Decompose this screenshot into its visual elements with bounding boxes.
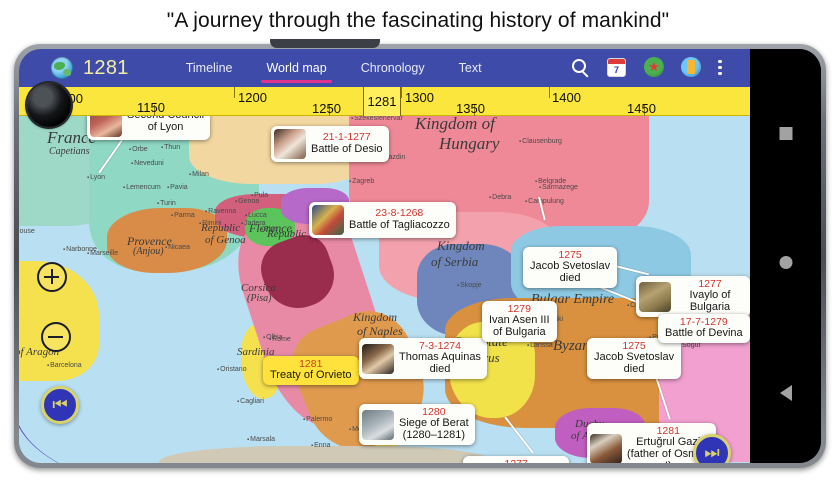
city-rimini: Rimini bbox=[199, 220, 222, 227]
app-viewport: 1281 Timeline World map Chronology Text … bbox=[19, 49, 750, 463]
event-callout-thomas-aquinas-died[interactable]: 7-3-1274 Thomas Aquinasdied bbox=[359, 338, 487, 379]
ruler-label-1350: 1350 bbox=[456, 101, 485, 116]
event-title: Treaty of Orvieto bbox=[270, 370, 352, 382]
ruler-label-1250: 1250 bbox=[312, 101, 341, 116]
city-nicaea: Nicaea bbox=[165, 244, 190, 251]
city-pavia: Pavia bbox=[167, 184, 188, 191]
tab-chronology[interactable]: Chronology bbox=[344, 52, 442, 85]
front-camera-icon bbox=[27, 83, 71, 127]
event-thumbnail bbox=[274, 129, 306, 159]
event-callout-battle-of-desio[interactable]: 21-1-1277 Battle of Desio bbox=[271, 126, 389, 162]
calendar-icon[interactable]: 7 bbox=[607, 57, 629, 79]
caption-bar: "A journey through the fascinating histo… bbox=[0, 0, 836, 42]
ruler-label-1150: 1150 bbox=[137, 100, 165, 115]
city-sarmazege: Sarmazege bbox=[539, 184, 578, 191]
city-enna: Enna bbox=[311, 442, 331, 449]
event-title: Battle of Desio bbox=[311, 144, 383, 156]
city-pula: Pula bbox=[251, 192, 268, 199]
city-ravenna: Ravenna bbox=[205, 208, 236, 215]
city-oristano: Oristano bbox=[217, 366, 247, 373]
tab-text[interactable]: Text bbox=[442, 52, 499, 85]
event-title: Ivaylo of Bulgaria bbox=[676, 290, 744, 314]
city-narbonne: Narbonne bbox=[63, 246, 97, 253]
ruler-label-1400: 1400 bbox=[552, 90, 581, 105]
region-provence bbox=[107, 208, 227, 273]
city-sogut: Sogut bbox=[679, 342, 700, 349]
city-lyon: Lyon bbox=[87, 174, 105, 181]
event-title: Jacob Svetoslavdied bbox=[530, 261, 610, 285]
city-larissa: Larissa bbox=[527, 342, 553, 349]
phone-notch bbox=[270, 39, 380, 48]
event-title: Ivan Asen IIIof Bulgaria bbox=[489, 315, 550, 339]
event-callout-ivaylo-of-bulgaria[interactable]: 1277 Ivaylo of Bulgaria bbox=[636, 276, 750, 317]
book-icon[interactable] bbox=[681, 57, 703, 79]
city-campulung: Campulung bbox=[525, 198, 564, 205]
event-title: Battle of Devina bbox=[665, 328, 743, 340]
caption-text: "A journey through the fascinating histo… bbox=[167, 9, 669, 33]
city-szekesfehervar: Szekesfehervar bbox=[351, 116, 403, 122]
event-callout-battle-of-devina[interactable]: 17-7-1279 Battle of Devina bbox=[658, 314, 750, 343]
city-genoa: Genoa bbox=[235, 198, 259, 205]
ruler-label-1450: 1450 bbox=[627, 101, 656, 116]
city-turin: Turin bbox=[157, 200, 176, 207]
event-callout-battle-of-tagliacozzo[interactable]: 23-8-1268 Battle of Tagliacozzo bbox=[309, 202, 456, 238]
event-thumbnail bbox=[362, 410, 394, 440]
world-map[interactable]: France Capetians Provence (Anjou) Republ… bbox=[19, 116, 750, 463]
event-callout-ivan-asen-iii[interactable]: 1279 Ivan Asen IIIof Bulgaria bbox=[482, 301, 557, 342]
city-pisa: Pisa bbox=[261, 226, 278, 233]
app-top-bar: 1281 Timeline World map Chronology Text … bbox=[19, 49, 750, 87]
ruler-label-1300: 1300 bbox=[405, 90, 434, 105]
city-cagliari: Cagliari bbox=[237, 398, 264, 405]
city-rome: Rome bbox=[269, 336, 291, 343]
tab-timeline[interactable]: Timeline bbox=[169, 52, 250, 85]
calendar-day-number: 7 bbox=[608, 64, 625, 76]
event-thumbnail bbox=[312, 205, 344, 235]
phone-screen: 1281 Timeline World map Chronology Text … bbox=[19, 49, 821, 463]
current-year-label: 1281 bbox=[83, 57, 129, 80]
ruler-label-1200: 1200 bbox=[238, 90, 267, 105]
city-belgrade: Belgrade bbox=[535, 178, 566, 185]
city-milan: Milan bbox=[189, 171, 209, 178]
event-date: 1277 bbox=[470, 459, 562, 463]
skip-next-icon: ⏭ bbox=[704, 443, 719, 463]
city-lemencum: Lemencum bbox=[123, 184, 161, 191]
nav-tabs: Timeline World map Chronology Text bbox=[169, 52, 499, 85]
android-navigation-bar bbox=[750, 49, 821, 463]
event-callout-treaty-of-orvieto[interactable]: 1281 Treaty of Orvieto bbox=[263, 356, 359, 385]
app-bar-actions: 7 bbox=[570, 57, 750, 79]
phone-device-frame: 1281 Timeline World map Chronology Text … bbox=[14, 44, 826, 468]
overflow-menu-icon[interactable] bbox=[718, 57, 740, 79]
city-skopje: Skopje bbox=[457, 282, 482, 289]
back-icon[interactable] bbox=[780, 385, 792, 401]
event-title: Siege of Berat(1280–1281) bbox=[399, 418, 469, 442]
city-orbe: Orbe bbox=[129, 146, 148, 153]
timeline-current-year-marker[interactable]: 1281 bbox=[363, 87, 401, 116]
recents-icon[interactable] bbox=[779, 127, 792, 140]
city-barcelona: Barcelona bbox=[47, 362, 82, 369]
city-lucca: Lucca bbox=[245, 212, 267, 219]
event-thumbnail bbox=[590, 434, 622, 463]
city-neveduni: Neveduni bbox=[131, 160, 164, 167]
event-title: Battle of Tagliacozzo bbox=[349, 220, 450, 232]
event-callout-jacob-svetoslav-died-bottom[interactable]: 1275 Jacob Svetoslavdied bbox=[587, 338, 681, 379]
event-thumbnail bbox=[639, 282, 671, 312]
event-title: Jacob Svetoslavdied bbox=[594, 352, 674, 376]
tab-world-map[interactable]: World map bbox=[249, 52, 343, 85]
city-clausenburg: Clausenburg bbox=[519, 138, 562, 145]
zoom-in-button[interactable] bbox=[37, 262, 67, 292]
skip-previous-button[interactable]: ⏮ bbox=[41, 386, 79, 424]
event-callout-siege-of-berat[interactable]: 1280 Siege of Berat(1280–1281) bbox=[359, 404, 475, 445]
city-parma: Parma bbox=[171, 212, 195, 219]
home-icon[interactable] bbox=[779, 256, 792, 269]
search-icon[interactable] bbox=[570, 57, 592, 79]
globe-icon[interactable] bbox=[51, 57, 73, 79]
skip-previous-icon: ⏮ bbox=[52, 395, 67, 415]
event-callout-second-council-of-lyon[interactable]: Second Councilof Lyon bbox=[87, 116, 210, 140]
event-thumbnail bbox=[90, 116, 122, 137]
city-marsala: Marsala bbox=[247, 436, 275, 443]
event-callout-jacob-svetoslav-died-top[interactable]: 1275 Jacob Svetoslavdied bbox=[523, 247, 617, 288]
event-title: Second Councilof Lyon bbox=[127, 116, 204, 134]
city-debra: Debra bbox=[489, 194, 511, 201]
city-toulouse: Tulouse bbox=[19, 228, 35, 235]
zoom-out-button[interactable] bbox=[41, 322, 71, 352]
event-callout-battle-of-pharsalus[interactable]: 1277 Battle of Pharsalus(1277) bbox=[463, 456, 569, 463]
city-jadera: Jadera bbox=[241, 220, 266, 227]
city-palermo: Palermo bbox=[303, 416, 332, 423]
timeline-ruler[interactable]: 1100 1150 1200 1250 1281 1300 1350 1400 … bbox=[19, 87, 750, 116]
event-thumbnail bbox=[362, 344, 394, 374]
city-zagreb: Zagreb bbox=[349, 178, 374, 185]
event-title: Thomas Aquinasdied bbox=[399, 352, 481, 376]
flag-icon[interactable] bbox=[644, 57, 666, 79]
city-thun: Thun bbox=[161, 144, 180, 151]
